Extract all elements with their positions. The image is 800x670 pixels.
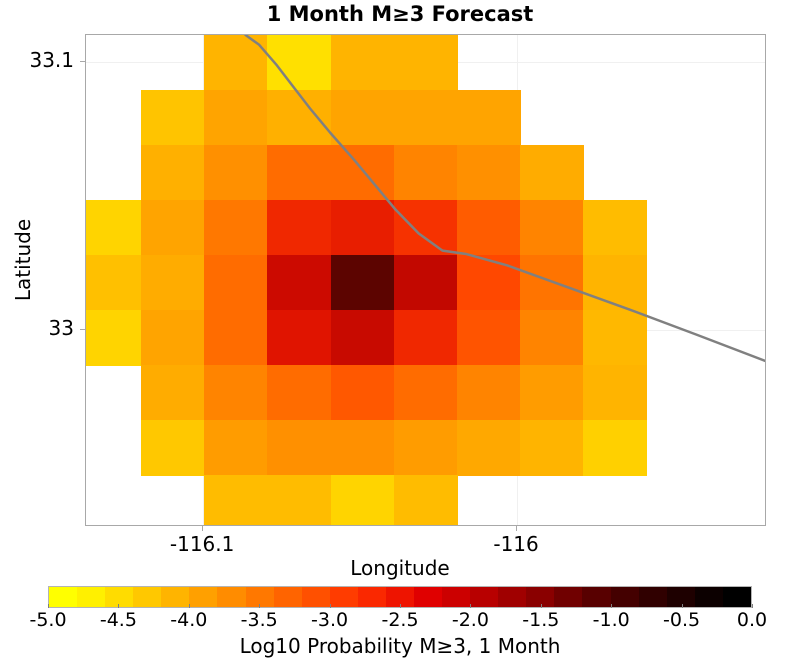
colorbar-segment bbox=[695, 587, 723, 607]
colorbar-tick-mark bbox=[118, 604, 119, 608]
x-tick-label: -116 bbox=[456, 532, 576, 556]
heatmap-cell bbox=[583, 255, 647, 311]
y-tick-mark bbox=[80, 61, 85, 62]
colorbar-ticks: -5.0-4.5-4.0-3.5-3.0-2.5-2.0-1.5-1.0-0.5… bbox=[0, 609, 800, 631]
colorbar-tick-label: -3.5 bbox=[241, 609, 278, 631]
colorbar-segment bbox=[611, 587, 639, 607]
heatmap-cell bbox=[394, 90, 458, 146]
heatmap-cell bbox=[331, 365, 395, 421]
heatmap-cell bbox=[394, 35, 458, 91]
heatmap-cell bbox=[204, 475, 268, 526]
heatmap-cell bbox=[204, 90, 268, 146]
colorbar-tick-label: -4.5 bbox=[100, 609, 137, 631]
colorbar-tick-label: 0.0 bbox=[737, 609, 767, 631]
colorbar-tick-mark bbox=[259, 604, 260, 608]
heatmap-cell bbox=[331, 310, 395, 366]
heatmap-cell bbox=[331, 90, 395, 146]
heatmap-cell bbox=[141, 365, 205, 421]
heatmap-cell bbox=[520, 365, 584, 421]
heatmap-cell bbox=[520, 255, 584, 311]
colorbar-tick-mark bbox=[541, 604, 542, 608]
heatmap-cell bbox=[457, 420, 521, 476]
heatmap-cell bbox=[267, 145, 331, 201]
heatmap-cell bbox=[141, 255, 205, 311]
heatmap-cell bbox=[86, 310, 141, 366]
colorbar-segment bbox=[189, 587, 217, 607]
colorbar-tick-mark bbox=[48, 604, 49, 608]
forecast-figure: 1 Month M≥3 Forecast 33.133 -116.1-116 L… bbox=[0, 0, 800, 670]
colorbar-segment bbox=[639, 587, 667, 607]
colorbar-tick-mark bbox=[682, 604, 683, 608]
heatmap-cell bbox=[331, 145, 395, 201]
heatmap-cell bbox=[520, 200, 584, 256]
heatmap-cell bbox=[457, 310, 521, 366]
colorbar-segment bbox=[498, 587, 526, 607]
heatmap-cell bbox=[331, 255, 395, 311]
colorbar-segment bbox=[330, 587, 358, 607]
heatmap-cell bbox=[267, 475, 331, 526]
colorbar-tick-label: -0.5 bbox=[663, 609, 700, 631]
heatmap-cell bbox=[394, 255, 458, 311]
heatmap-cell bbox=[204, 255, 268, 311]
heatmap-cell bbox=[141, 200, 205, 256]
heatmap-cell bbox=[394, 420, 458, 476]
heatmap-plot-area[interactable] bbox=[85, 34, 766, 526]
heatmap-cell bbox=[86, 255, 141, 311]
heatmap-cell bbox=[331, 200, 395, 256]
colorbar-label: Log10 Probability M≥3, 1 Month bbox=[0, 634, 800, 658]
heatmap-cell bbox=[267, 310, 331, 366]
heatmap-cell bbox=[267, 420, 331, 476]
heatmap-cell bbox=[583, 420, 647, 476]
colorbar-segment bbox=[49, 587, 77, 607]
page-title: 1 Month M≥3 Forecast bbox=[0, 2, 800, 26]
y-tick-label: 33 bbox=[0, 316, 74, 340]
colorbar-tick-mark bbox=[470, 604, 471, 608]
heatmap-cell bbox=[267, 35, 331, 91]
colorbar-segment bbox=[582, 587, 610, 607]
colorbar-segment bbox=[161, 587, 189, 607]
colorbar-tick-label: -2.0 bbox=[452, 609, 489, 631]
heatmap-cell bbox=[520, 145, 584, 201]
colorbar-segment bbox=[442, 587, 470, 607]
colorbar-tick-label: -1.0 bbox=[593, 609, 630, 631]
colorbar-tick-mark bbox=[611, 604, 612, 608]
heatmap-cell bbox=[141, 145, 205, 201]
x-axis-label: Longitude bbox=[0, 556, 800, 580]
heatmap-cell bbox=[204, 310, 268, 366]
heatmap-cell bbox=[331, 35, 395, 91]
heatmap-cell bbox=[204, 420, 268, 476]
colorbar-tick-label: -2.5 bbox=[381, 609, 418, 631]
heatmap-cell bbox=[331, 420, 395, 476]
heatmap-cell bbox=[394, 310, 458, 366]
heatmap-cell bbox=[394, 365, 458, 421]
y-tick-mark bbox=[80, 329, 85, 330]
heatmap-cell bbox=[204, 365, 268, 421]
colorbar-tick-label: -5.0 bbox=[29, 609, 66, 631]
colorbar-tick-label: -3.0 bbox=[311, 609, 348, 631]
colorbar-tick-mark bbox=[330, 604, 331, 608]
colorbar-tick-mark bbox=[400, 604, 401, 608]
heatmap-cell bbox=[457, 90, 521, 146]
x-tick-mark bbox=[202, 526, 203, 531]
colorbar-tick-label: -4.0 bbox=[170, 609, 207, 631]
heatmap-cell bbox=[457, 145, 521, 201]
colorbar-segment bbox=[470, 587, 498, 607]
colorbar-segment bbox=[77, 587, 105, 607]
heatmap-cell bbox=[267, 90, 331, 146]
colorbar-segment bbox=[274, 587, 302, 607]
colorbar-segment bbox=[554, 587, 582, 607]
colorbar-segment bbox=[358, 587, 386, 607]
heatmap-cell bbox=[204, 200, 268, 256]
heatmap-cell bbox=[394, 200, 458, 256]
colorbar-segment bbox=[302, 587, 330, 607]
heatmap-cell bbox=[204, 35, 268, 91]
heatmap-cell bbox=[457, 200, 521, 256]
colorbar-segment bbox=[414, 587, 442, 607]
heatmap-cell bbox=[141, 420, 205, 476]
heatmap-cell bbox=[520, 310, 584, 366]
colorbar-segment bbox=[217, 587, 245, 607]
y-axis-label: Latitude bbox=[11, 219, 35, 301]
x-tick-label: -116.1 bbox=[142, 532, 262, 556]
colorbar-tick-mark bbox=[752, 604, 753, 608]
colorbar-segment bbox=[133, 587, 161, 607]
heatmap-cell bbox=[86, 200, 141, 256]
colorbar-tick-mark bbox=[189, 604, 190, 608]
heatmap-cell bbox=[267, 200, 331, 256]
heatmap-cell bbox=[583, 365, 647, 421]
heatmap-cell bbox=[141, 90, 205, 146]
heatmap-cell bbox=[331, 475, 395, 526]
heatmap-cell bbox=[204, 145, 268, 201]
x-tick-mark bbox=[516, 526, 517, 531]
colorbar-segment bbox=[723, 587, 751, 607]
heatmap-cell bbox=[457, 255, 521, 311]
heatmap-cell bbox=[457, 365, 521, 421]
colorbar-tick-label: -1.5 bbox=[522, 609, 559, 631]
heatmap-cell bbox=[583, 200, 647, 256]
heatmap-cell bbox=[520, 420, 584, 476]
y-tick-label: 33.1 bbox=[0, 48, 74, 72]
heatmap-cell bbox=[267, 255, 331, 311]
heatmap-cell bbox=[394, 475, 458, 526]
heatmap-cell bbox=[267, 365, 331, 421]
heatmap-cell bbox=[583, 310, 647, 366]
heatmap-cell bbox=[141, 310, 205, 366]
heatmap-cell bbox=[394, 145, 458, 201]
